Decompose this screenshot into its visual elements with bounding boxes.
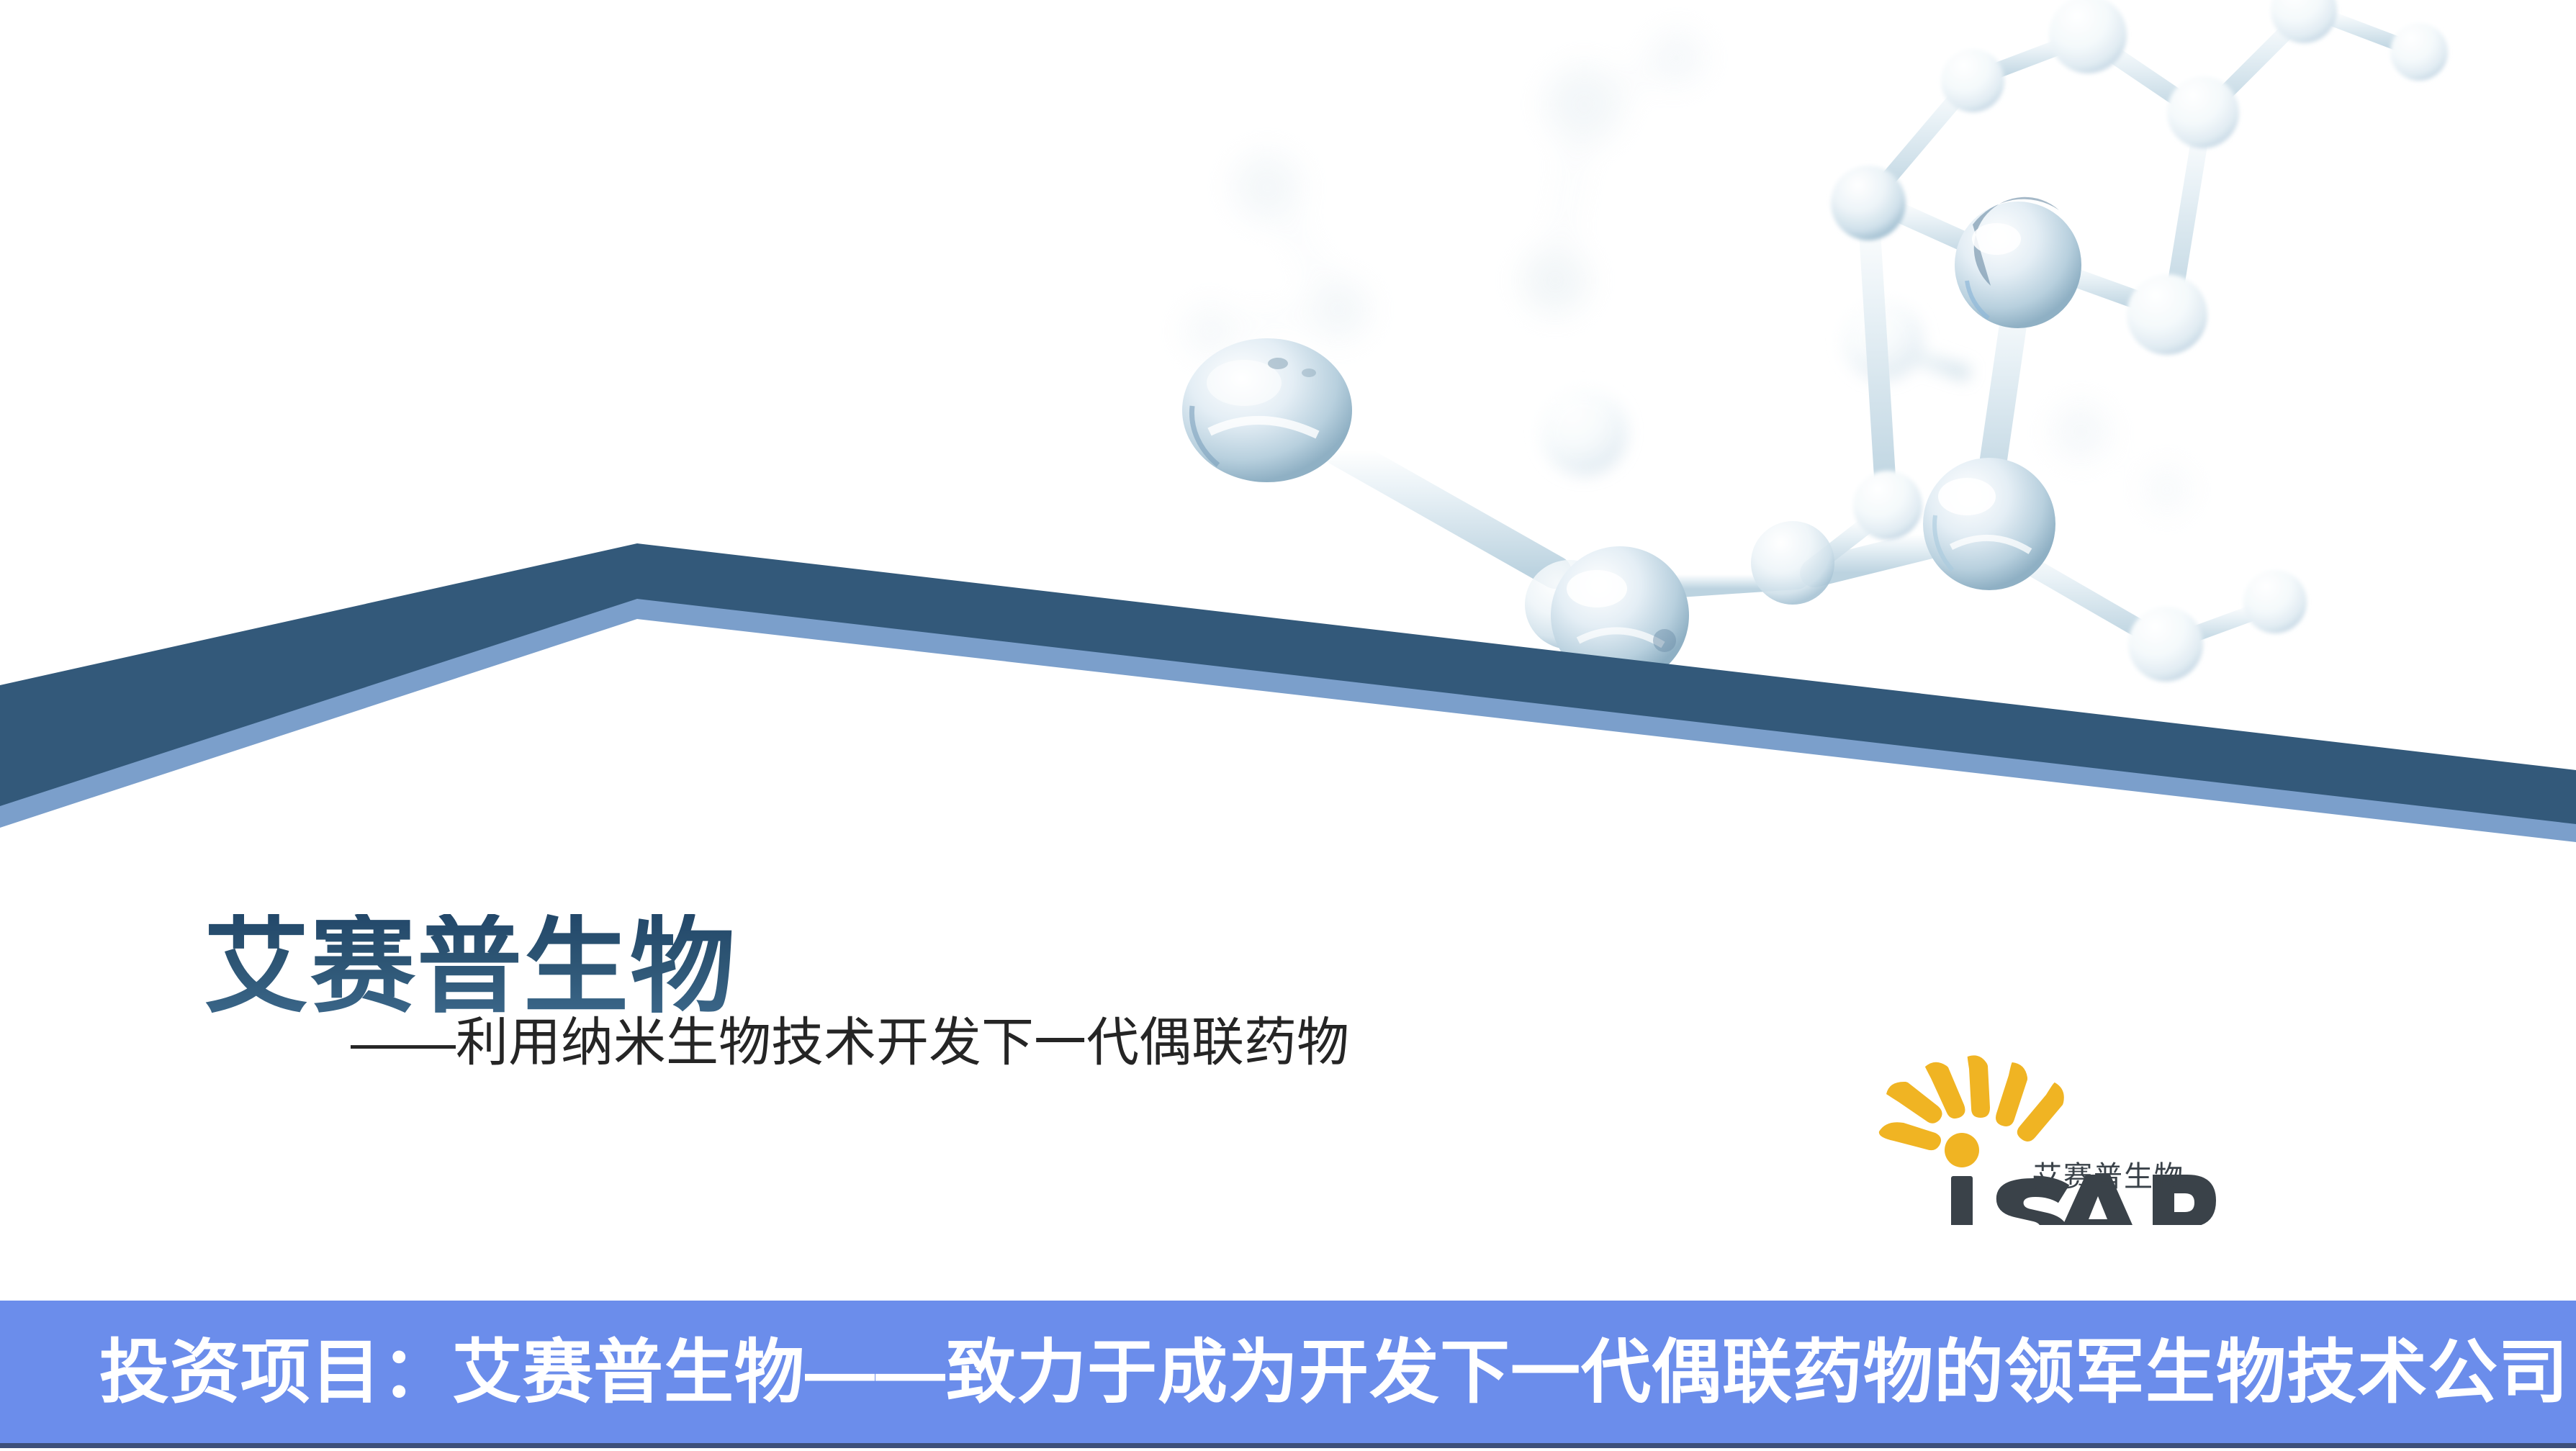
chevron-dark-band [0, 543, 2576, 824]
molecule-illustration [1123, 0, 2576, 698]
chevron-light-band [0, 563, 2576, 842]
sunburst-icon [1879, 1055, 2064, 1167]
page-title: 艾赛普生物 [204, 914, 737, 1019]
page-subtitle: ——利用纳米生物技术开发下一代偶联药物 [351, 1016, 1349, 1069]
banner-headline: 投资项目：艾赛普生物——致力于成为开发下一代偶联药物的领军生物技术公司 [99, 1337, 2569, 1407]
presentation-slide: 艾赛普生物 艾赛普生物 ——利用纳米生物技术开发下一代偶联药物 [0, 0, 2576, 1451]
logo-chinese-name-label: 艾赛普生物 [2033, 1153, 2184, 1195]
company-logo: 艾赛普生物 [1866, 1052, 2298, 1225]
bottom-banner: 投资项目：艾赛普生物——致力于成为开发下一代偶联药物的领军生物技术公司 [0, 1301, 2576, 1448]
